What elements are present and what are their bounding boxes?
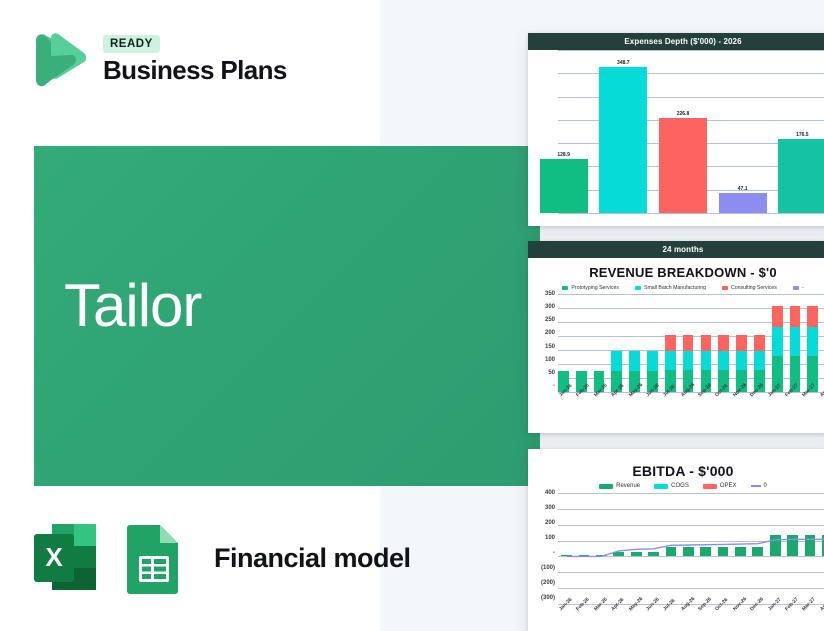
x-label-holder: Apr-26 — [610, 392, 627, 414]
ebitda-x-axis-labels: Jan-26Feb-26Mar-26Apr-26May-26Jun-26Jul-… — [558, 606, 824, 628]
chart-card-expenses[interactable]: Expenses Depth ($'000) - 2026 128.9348.7… — [528, 33, 824, 226]
chart-card-ebitda[interactable]: EBITDA - $'000 RevenueCOGSOPEX0 40030020… — [528, 449, 824, 631]
stacked-column — [736, 294, 747, 392]
bar-column: 176.5 — [778, 50, 824, 213]
expenses-bars: 128.9348.7226.847.1176.5 — [528, 50, 824, 213]
stacked-column — [647, 294, 658, 392]
y-tick-label: (100) — [528, 565, 555, 571]
series-segment — [647, 351, 658, 371]
x-label-holder: Feb-26 — [575, 392, 592, 414]
bar-column: 226.8 — [659, 50, 707, 213]
revenue-legend: Prototyping ServicesSmall Batch Manufact… — [528, 283, 824, 294]
legend-swatch — [751, 485, 761, 487]
legend-swatch — [599, 484, 613, 489]
bar-column: 128.9 — [540, 50, 588, 213]
x-label-holder: May-26 — [628, 392, 645, 414]
y-tick-label: 150 — [528, 344, 555, 350]
x-label-holder: Apr-26 — [610, 606, 627, 628]
y-tick-label: 50 — [528, 370, 555, 376]
series-segment — [736, 351, 747, 370]
y-tick-label: (300) — [528, 595, 555, 601]
legend-swatch — [635, 286, 641, 290]
revenue-plot-area: 35030025020015010050- Jan-26Feb-26Mar-26… — [528, 294, 824, 414]
y-tick-label: - — [528, 550, 555, 556]
bar-value-label: 348.7 — [617, 60, 630, 66]
footer-row: X Financial model — [30, 520, 411, 596]
x-label-holder: Feb-27 — [784, 606, 801, 628]
legend-swatch — [793, 286, 799, 290]
revenue-y-axis: 35030025020015010050- — [528, 294, 558, 392]
legend-label: OPEX — [720, 483, 737, 489]
y-tick-label: 300 — [528, 505, 555, 511]
series-segment — [683, 351, 694, 370]
x-label-holder: Jul-26 — [662, 606, 679, 628]
series-segment — [772, 327, 783, 356]
series-segment — [754, 351, 765, 370]
play-triangle-logo-icon — [27, 28, 89, 92]
stacked-column — [718, 294, 729, 392]
gridline — [558, 213, 824, 214]
bar — [778, 139, 824, 213]
x-label-holder: Feb-26 — [575, 606, 592, 628]
legend-label: 0 — [764, 483, 767, 489]
series-segment — [665, 335, 676, 352]
ebitda-chart-title: EBITDA - $'000 — [528, 449, 824, 482]
stacked-column — [558, 294, 569, 392]
series-segment — [718, 351, 729, 370]
stacked-column — [683, 294, 694, 392]
y-tick-label: 250 — [528, 317, 555, 323]
legend-label: Consulting Services — [731, 285, 777, 291]
bar — [540, 159, 588, 213]
legend-swatch — [722, 286, 728, 290]
stacked-column — [665, 294, 676, 392]
revenue-stacked-columns — [558, 294, 824, 392]
x-label-holder: Sep-26 — [697, 392, 714, 414]
legend-item: 0 — [751, 483, 767, 489]
revenue-chart-title: REVENUE BREAKDOWN - $'0 — [528, 258, 824, 283]
bar-value-label: 128.9 — [557, 152, 570, 158]
legend-label: Prototyping Services — [571, 285, 619, 291]
x-label-holder: Jan-26 — [558, 606, 575, 628]
legend-item: Small Batch Manufacturing — [635, 285, 706, 291]
y-tick-label: 100 — [528, 535, 555, 541]
bar-column: 348.7 — [599, 50, 647, 213]
x-label-holder: Nov-26 — [732, 606, 749, 628]
x-label-holder: Dec-26 — [749, 392, 766, 414]
y-tick-label: 300 — [528, 304, 555, 310]
x-label-holder: Dec-26 — [749, 606, 766, 628]
legend-label: - — [802, 285, 804, 291]
legend-item: Prototyping Services — [562, 285, 619, 291]
chart-card-revenue[interactable]: 24 months REVENUE BREAKDOWN - $'0 Protot… — [528, 241, 824, 433]
x-label-holder: Nov-26 — [732, 392, 749, 414]
svg-text:X: X — [45, 542, 63, 572]
bar-value-label: 176.5 — [796, 132, 809, 138]
legend-swatch — [562, 286, 568, 290]
x-label-holder: Oct-26 — [714, 606, 731, 628]
y-tick-label: 200 — [528, 520, 555, 526]
x-label-holder: Jun-26 — [645, 606, 662, 628]
legend-item: OPEX — [703, 483, 737, 489]
series-segment — [683, 335, 694, 352]
x-label-holder: Jan-27 — [767, 392, 784, 414]
x-label-holder: Mar-26 — [593, 392, 610, 414]
stacked-column — [754, 294, 765, 392]
bar-value-label: 226.8 — [677, 111, 690, 117]
bar — [599, 67, 647, 213]
x-label-holder: Mar-27 — [801, 392, 818, 414]
stacked-column — [611, 294, 622, 392]
y-tick-label: 350 — [528, 291, 555, 297]
legend-item: - — [793, 285, 804, 291]
x-label-holder: Aug-26 — [680, 606, 697, 628]
brand-header: READY Business Plans — [27, 28, 287, 92]
legend-item: COGS — [654, 483, 689, 489]
y-tick-label: 100 — [528, 357, 555, 363]
x-label-holder: Apr-27 — [819, 392, 824, 414]
x-label-holder: Jul-26 — [662, 392, 679, 414]
ready-badge: READY — [103, 35, 160, 53]
ebitda-y-axis: 400300200100-(100)(200)(300) — [528, 493, 558, 604]
y-tick-label: 200 — [528, 330, 555, 336]
stacked-column — [629, 294, 640, 392]
y-tick-label: - — [528, 383, 555, 389]
x-label-holder: Aug-26 — [680, 392, 697, 414]
legend-swatch — [703, 484, 717, 489]
x-label-holder: Apr-27 — [819, 606, 824, 628]
ebitda-zero-line — [558, 493, 824, 604]
stacked-column — [594, 294, 605, 392]
stacked-column — [701, 294, 712, 392]
expenses-chart-header: Expenses Depth ($'000) - 2026 — [528, 33, 824, 50]
ebitda-plot-area: 400300200100-(100)(200)(300) Jan-26Feb-2… — [528, 493, 824, 628]
x-label-holder: Mar-27 — [801, 606, 818, 628]
series-segment — [754, 335, 765, 352]
stacked-column — [772, 294, 783, 392]
y-tick-label: 400 — [528, 490, 555, 496]
revenue-chart-header: 24 months — [528, 241, 824, 258]
series-segment — [807, 327, 818, 356]
series-segment — [611, 351, 622, 371]
bar-value-label: 47.1 — [738, 186, 748, 192]
revenue-x-axis-labels: Jan-26Feb-26Mar-26Apr-26May-26Jun-26Jul-… — [558, 392, 824, 414]
series-segment — [701, 351, 712, 370]
legend-label: COGS — [671, 483, 689, 489]
footer-label: Financial model — [214, 543, 411, 574]
microsoft-excel-icon: X — [30, 520, 102, 596]
brand-title: Business Plans — [103, 57, 287, 84]
hero-title: Tailor — [64, 276, 201, 336]
slide-canvas: READY Business Plans Tailor X — [0, 0, 824, 631]
x-label-holder: Sep-26 — [697, 606, 714, 628]
legend-item: Revenue — [599, 483, 640, 489]
hero-panel: Tailor — [34, 146, 540, 486]
x-label-holder: Jan-27 — [767, 606, 784, 628]
x-label-holder: Jun-26 — [645, 392, 662, 414]
legend-label: Small Batch Manufacturing — [644, 285, 706, 291]
legend-label: Revenue — [616, 483, 640, 489]
y-tick-label: (200) — [528, 580, 555, 586]
expenses-plot-area: 128.9348.7226.847.1176.5 — [528, 50, 824, 213]
series-segment — [629, 351, 640, 371]
x-label-holder: Feb-27 — [784, 392, 801, 414]
x-label-holder: Oct-26 — [714, 392, 731, 414]
series-segment — [665, 351, 676, 370]
series-segment — [807, 306, 818, 326]
bar — [719, 193, 767, 213]
stacked-column — [790, 294, 801, 392]
series-segment — [701, 335, 712, 352]
google-sheets-icon — [118, 520, 190, 596]
ebitda-legend: RevenueCOGSOPEX0 — [528, 482, 824, 493]
legend-item: Consulting Services — [722, 285, 777, 291]
series-segment — [790, 306, 801, 326]
stacked-column — [807, 294, 818, 392]
series-segment — [790, 327, 801, 356]
series-segment — [718, 335, 729, 352]
x-label-holder: Mar-26 — [593, 606, 610, 628]
series-segment — [772, 306, 783, 326]
stacked-column — [576, 294, 587, 392]
x-label-holder: May-26 — [628, 606, 645, 628]
x-label-holder: Jan-26 — [558, 392, 575, 414]
series-segment — [736, 335, 747, 352]
bar-column: 47.1 — [719, 50, 767, 213]
bar — [659, 118, 707, 213]
legend-swatch — [654, 484, 668, 489]
